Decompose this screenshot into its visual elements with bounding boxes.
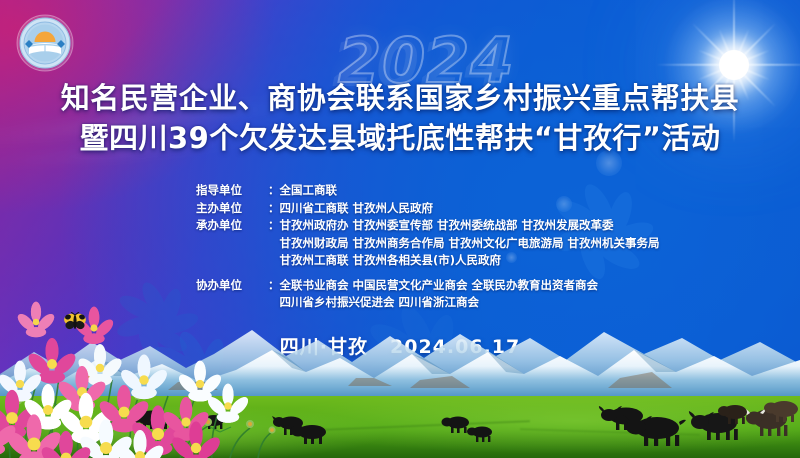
yak	[716, 402, 752, 424]
yak	[762, 398, 800, 422]
organizer-label: 承办单位	[196, 217, 268, 235]
organizer-value: 甘孜州工商联 甘孜州各相关县(市)人民政府	[280, 252, 660, 270]
organizer-label: 协办单位	[196, 277, 268, 295]
organizer-value: 全联书业商会 中国民营文化产业商会 全联民办教育出资者商会	[280, 277, 660, 295]
banner-title: 知名民营企业、商协会联系国家乡村振兴重点帮扶县 暨四川39个欠发达县域托底性帮扶…	[0, 78, 800, 158]
yak	[128, 408, 174, 430]
organizer-value: 甘孜州政府办 甘孜州委宣传部 甘孜州委统战部 甘孜州发展改革委	[280, 217, 660, 235]
organizer-label: 主办单位	[196, 200, 268, 218]
organizer-value: 四川省乡村振兴促进会 四川省浙江商会	[280, 294, 660, 312]
yak	[466, 424, 496, 442]
organizer-value: 甘孜州财政局 甘孜州商务合作局 甘孜州文化广电旅游局 甘孜州机关事务局	[280, 235, 660, 253]
organizer-value: 四川省工商联 甘孜州人民政府	[280, 200, 660, 218]
organizer-info: 指导单位 ： 全国工商联 主办单位 ： 四川省工商联 甘孜州人民政府 承办单位 …	[196, 182, 660, 312]
yak	[288, 422, 332, 444]
title-line-1: 知名民营企业、商协会联系国家乡村振兴重点帮扶县	[0, 78, 800, 118]
event-banner: 2024 2024 知名民营企业、商协会联系国家乡村振兴重点帮扶县 暨四川39个…	[0, 0, 800, 458]
organizer-colon: ：	[268, 217, 280, 235]
organizer-colon: ：	[268, 200, 280, 218]
organizer-colon: ：	[268, 277, 280, 295]
yak	[198, 413, 228, 430]
title-line-2: 暨四川39个欠发达县域托底性帮扶“甘孜行”活动	[0, 118, 800, 158]
yak	[622, 414, 688, 446]
organization-logo	[16, 14, 74, 72]
organizer-row: 指导单位 ： 全国工商联	[196, 182, 660, 200]
organizer-colon: ：	[268, 182, 280, 200]
organizer-row: 协办单位 ： 全联书业商会 中国民营文化产业商会 全联民办教育出资者商会 四川省…	[196, 277, 660, 312]
organizer-label: 指导单位	[196, 182, 268, 200]
landscape-scene	[0, 318, 800, 458]
organizer-row: 主办单位 ： 四川省工商联 甘孜州人民政府	[196, 200, 660, 218]
snow-mountains	[0, 316, 800, 398]
butterfly-icon	[62, 312, 88, 337]
organizer-row: 承办单位 ： 甘孜州政府办 甘孜州委宣传部 甘孜州委统战部 甘孜州发展改革委 甘…	[196, 217, 660, 270]
organizer-value: 全国工商联	[280, 182, 660, 200]
